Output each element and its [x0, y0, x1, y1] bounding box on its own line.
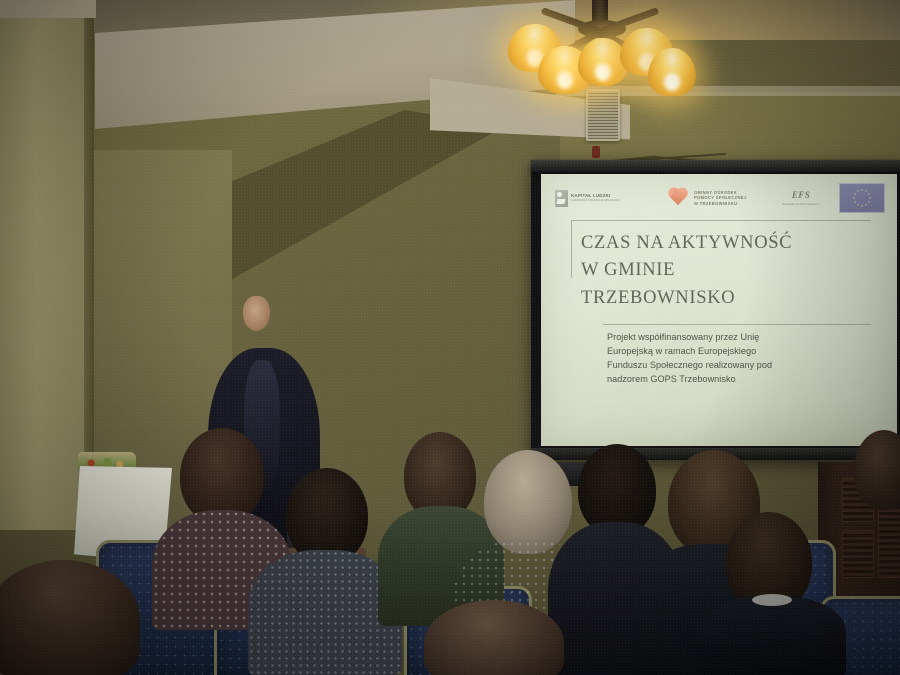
slide-body-line-1: Projekt współfinansowany przez Unię [607, 330, 857, 344]
kapital-ludzki-title: KAPITAŁ LUDZKI [571, 194, 620, 198]
eu-star-icon [861, 205, 863, 207]
presentation-slide: KAPITAŁ LUDZKI NARODOWA STRATEGIA SPÓJNO… [541, 174, 897, 446]
slide-body-line-3: Funduszu Społecznego realizowany pod [607, 358, 857, 372]
logo-efs: EFS Europejski Fundusz Społeczny [783, 190, 820, 206]
slide-title-line-3: TRZEBOWNISKO [581, 285, 881, 312]
eu-star-icon [853, 197, 855, 199]
kapital-ludzki-subtitle: NARODOWA STRATEGIA SPÓJNOŚCI [571, 200, 620, 203]
eu-star-icon [854, 201, 856, 203]
screen-mount-hook [592, 146, 600, 158]
eu-star-icon [868, 201, 870, 203]
efs-subtitle: Europejski Fundusz Społeczny [783, 203, 820, 206]
slide-title: CZAS NA AKTYWNOŚĆ W GMINIE TRZEBOWNISKO [581, 230, 881, 312]
eu-star-icon [861, 189, 863, 191]
audience-torso [700, 596, 846, 675]
efs-title: EFS [792, 190, 810, 200]
logo-kapital-ludzki: KAPITAŁ LUDZKI NARODOWA STRATEGIA SPÓJNO… [555, 190, 641, 207]
photo-scene: KAPITAŁ LUDZKI NARODOWA STRATEGIA SPÓJNO… [0, 0, 900, 675]
kapital-ludzki-mark-icon [555, 190, 568, 207]
slide-rule-left [571, 220, 572, 278]
eu-star-icon [865, 204, 867, 206]
eu-star-icon [868, 193, 870, 195]
slide-logo-row: KAPITAŁ LUDZKI NARODOWA STRATEGIA SPÓJNO… [549, 180, 889, 214]
slide-body-text: Projekt współfinansowany przez Unię Euro… [607, 330, 857, 386]
projector-screen-surface: KAPITAŁ LUDZKI NARODOWA STRATEGIA SPÓJNO… [541, 174, 897, 446]
gops-line-3: W TRZEBOWNISKU [694, 201, 747, 206]
shirt-collar [752, 594, 792, 606]
wall-column [0, 10, 92, 530]
slide-body-line-4: nadzorem GOPS Trzebownisko [607, 372, 857, 386]
slide-title-line-1: CZAS NA AKTYWNOŚĆ [581, 230, 881, 257]
eu-star-icon [857, 190, 859, 192]
european-union-flag-icon [839, 183, 885, 213]
chandelier [500, 0, 710, 104]
slide-title-line-2: W GMINIE [581, 257, 881, 284]
lamp-shade-icon [648, 48, 696, 96]
logo-gops-trzebownisko: GMINNY OŚRODEK POMOCY SPOŁECZNEJ W TRZEB… [667, 188, 747, 208]
cabinet-louver-panel [842, 530, 874, 578]
eu-star-icon [857, 204, 859, 206]
projector-screen-case [531, 160, 900, 172]
audience-head [854, 430, 900, 510]
slide-rule-top [571, 220, 871, 221]
presenter-face [243, 296, 270, 331]
wall-column-capital [0, 0, 96, 18]
audience-head [484, 450, 572, 554]
eu-star-icon [869, 197, 871, 199]
eu-star-icon [865, 190, 867, 192]
eu-star-icon [854, 193, 856, 195]
heart-icon [667, 188, 689, 208]
slide-body-line-2: Europejską w ramach Europejskiego [607, 344, 857, 358]
slide-rule-middle [603, 324, 871, 325]
